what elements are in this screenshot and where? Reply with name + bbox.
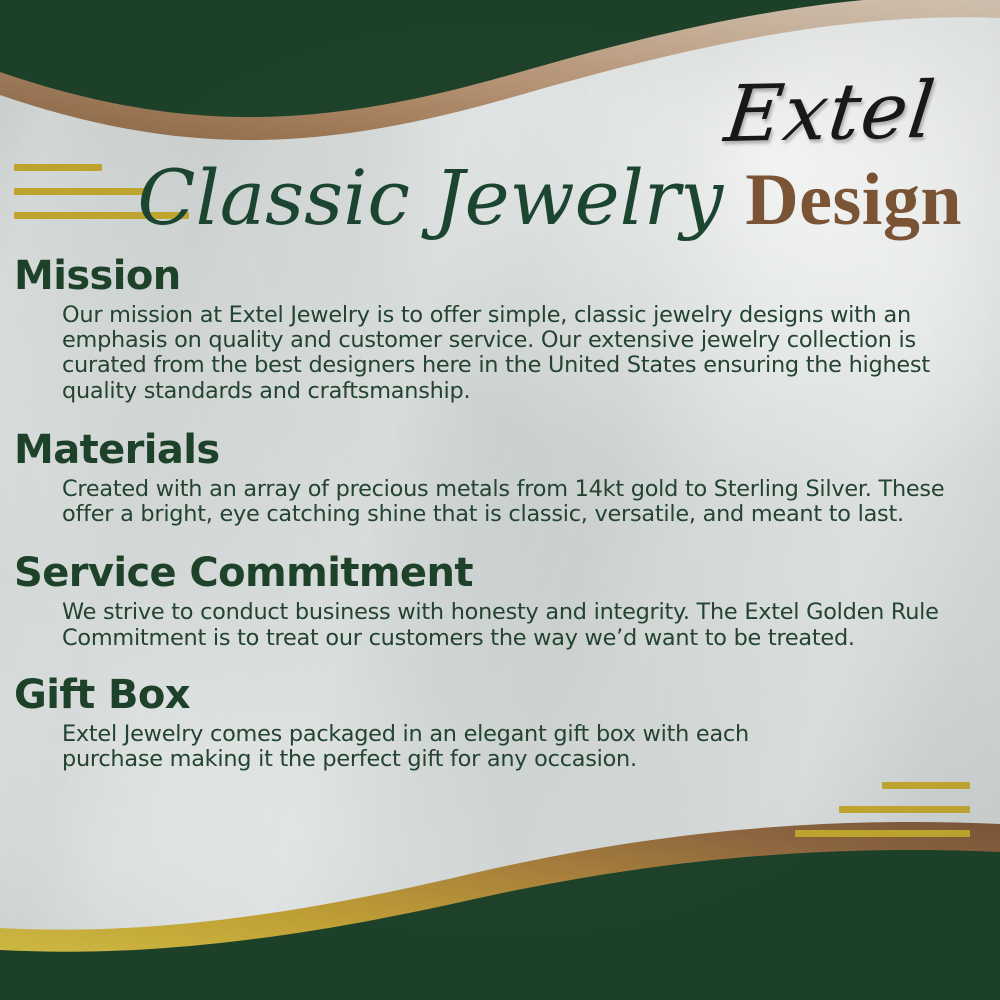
gold-line-bottom-right-3 (795, 830, 970, 837)
title-design: Design (745, 162, 962, 240)
title-classic-jewelry: Classic Jewelry (137, 158, 723, 238)
section-body-service-commitment: We strive to conduct business with hones… (62, 600, 976, 651)
gold-line-bottom-right-2 (839, 806, 970, 813)
section-heading-gift-box: Gift Box (14, 671, 1000, 720)
section-heading-materials: Materials (14, 426, 1000, 475)
section-service-commitment: Service Commitment We strive to conduct … (0, 549, 1000, 650)
gold-lines-bottom-right (795, 782, 970, 837)
section-body-mission: Our mission at Extel Jewelry is to offer… (62, 303, 976, 404)
poster-title: Classic Jewelry Design (0, 158, 962, 240)
section-heading-service-commitment: Service Commitment (14, 549, 1000, 598)
section-body-gift-box: Extel Jewelry comes packaged in an elega… (62, 722, 822, 773)
section-mission: Mission Our mission at Extel Jewelry is … (0, 252, 1000, 404)
content-sections: Mission Our mission at Extel Jewelry is … (0, 252, 1000, 772)
section-materials: Materials Created with an array of preci… (0, 426, 1000, 527)
brand-logo-extel: Extel (721, 72, 939, 154)
section-body-materials: Created with an array of precious metals… (62, 477, 976, 528)
poster-canvas: Extel Classic Jewelry Design Mission Our… (0, 0, 1000, 1000)
gold-line-bottom-right-1 (882, 782, 970, 789)
bottom-wave-decoration (0, 810, 1000, 1000)
section-heading-mission: Mission (14, 252, 1000, 301)
section-gift-box: Gift Box Extel Jewelry comes packaged in… (0, 671, 1000, 772)
